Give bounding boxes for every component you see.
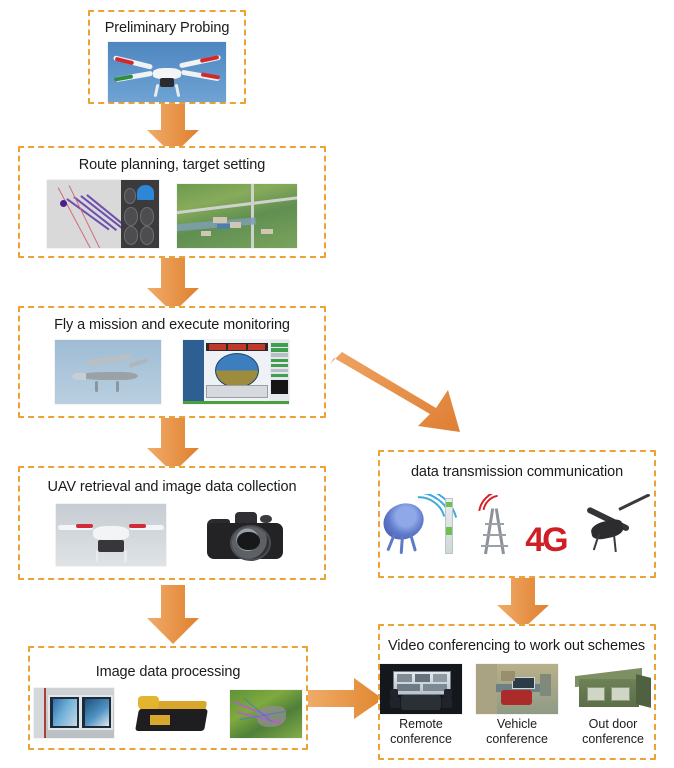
step-box-image-data-processing[interactable]: Image data processing [28, 646, 308, 750]
arrow-retrieval-to-processing [146, 585, 200, 645]
dslr-camera-photo [202, 504, 288, 566]
conference-caption: Out door conference [582, 717, 644, 747]
aerial-farmland-photo [177, 184, 297, 248]
step-title: data transmission communication [380, 464, 654, 481]
step-box-route-planning[interactable]: Route planning, target setting [18, 146, 326, 258]
step-title: Preliminary Probing [90, 20, 244, 37]
conference-tile-remote: Remote conference [380, 664, 462, 747]
step-images: Remote conference Vehicle conference [380, 664, 654, 747]
hand-launch-uav-icon [581, 494, 654, 558]
step-title: Video conferencing to work out schemes [388, 638, 646, 655]
step-box-video-conferencing[interactable]: Video conferencing to work out schemes [378, 624, 656, 760]
quadcopter-drone-photo [108, 42, 226, 102]
step-images [30, 688, 306, 738]
satellite-dish-icon [380, 494, 461, 558]
step-images: 4G [380, 494, 654, 558]
4g-tower-icon: 4G [475, 494, 566, 558]
arrow-transmission-to-conferencing [496, 576, 550, 630]
vehicle-conference-photo [476, 664, 558, 714]
flight-plan-map-screen [47, 180, 159, 248]
step-title: Fly a mission and execute monitoring [20, 317, 324, 334]
step-images [20, 180, 324, 248]
step-box-fly-mission[interactable]: Fly a mission and execute monitoring [18, 306, 326, 418]
conference-tile-outdoor: Out door conference [572, 664, 654, 747]
landed-quadcopter-photo [56, 504, 166, 566]
workstation-monitors-photo [34, 688, 114, 738]
terrain-gis-map-photo [230, 690, 302, 738]
outdoor-conference-photo [572, 664, 654, 714]
step-images [90, 42, 244, 102]
remote-conference-photo [380, 664, 462, 714]
step-title: UAV retrieval and image data collection [20, 479, 324, 496]
step-images [20, 340, 324, 404]
step-box-preliminary-probing[interactable]: Preliminary Probing [88, 10, 246, 104]
fixed-wing-uav-photo [55, 340, 161, 404]
conference-caption: Vehicle conference [486, 717, 548, 747]
step-images [20, 504, 324, 566]
step-title: Image data processing [30, 664, 306, 681]
step-title: Route planning, target setting [20, 157, 324, 174]
conference-tile-vehicle: Vehicle conference [476, 664, 558, 747]
4g-label: 4G [525, 523, 566, 557]
flowchart-canvas: Preliminary Probing [0, 0, 674, 768]
arrow-fly-to-transmission [326, 352, 466, 432]
conference-caption: Remote conference [390, 717, 452, 747]
arrow-processing-to-conferencing [306, 678, 384, 720]
step-box-uav-retrieval[interactable]: UAV retrieval and image data collection [18, 466, 326, 580]
large-format-plotter-photo [132, 688, 212, 738]
ground-control-station-screen [183, 340, 289, 404]
step-box-data-transmission[interactable]: data transmission communication [378, 450, 656, 578]
